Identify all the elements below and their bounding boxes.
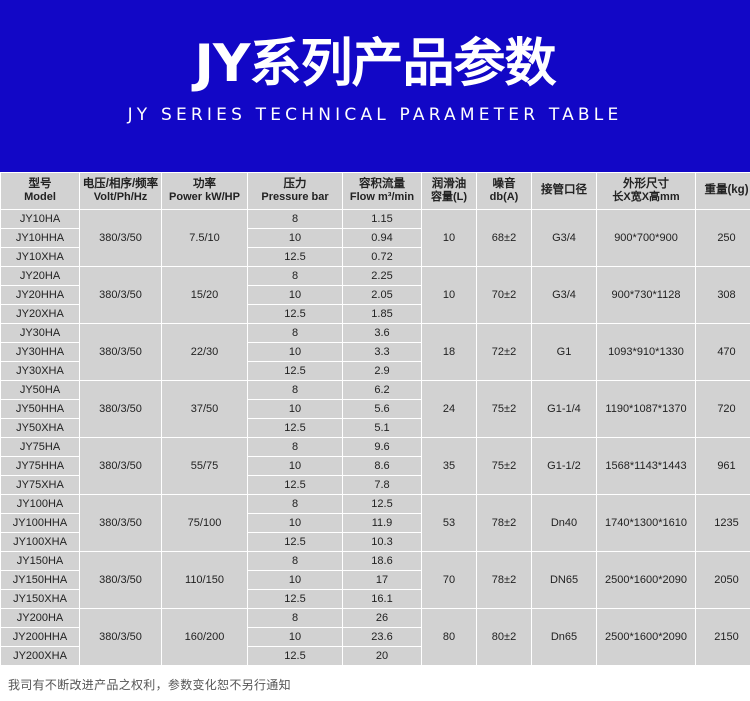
cell-pressure: 10 bbox=[248, 229, 342, 247]
cell-flow: 3.6 bbox=[343, 324, 421, 342]
page-banner: JY系列产品参数 JY SERIES TECHNICAL PARAMETER T… bbox=[0, 0, 750, 172]
cell-oil-capacity: 10 bbox=[422, 210, 476, 266]
cell-dimensions: 900*730*1128 bbox=[597, 267, 695, 323]
cell-noise: 75±2 bbox=[477, 381, 531, 437]
cell-weight: 308 bbox=[696, 267, 750, 323]
table-row: JY30HA380/3/5022/3083.61872±2G11093*910*… bbox=[1, 324, 750, 342]
cell-weight: 1235 bbox=[696, 495, 750, 551]
cell-pressure: 12.5 bbox=[248, 590, 342, 608]
cell-power: 110/150 bbox=[162, 552, 247, 608]
cell-model: JY100HHA bbox=[1, 514, 79, 532]
cell-model: JY20HA bbox=[1, 267, 79, 285]
cell-weight: 2150 bbox=[696, 609, 750, 665]
column-header-en-8: 长X宽X高mm bbox=[597, 191, 695, 204]
cell-voltage: 380/3/50 bbox=[80, 324, 161, 380]
cell-model: JY100XHA bbox=[1, 533, 79, 551]
cell-flow: 7.8 bbox=[343, 476, 421, 494]
cell-power: 160/200 bbox=[162, 609, 247, 665]
table-row: JY200HA380/3/50160/2008268080±2Dn652500*… bbox=[1, 609, 750, 627]
column-header-3: 压力Pressure bar bbox=[248, 173, 342, 209]
cell-model: JY10HA bbox=[1, 210, 79, 228]
cell-flow: 17 bbox=[343, 571, 421, 589]
cell-pressure: 12.5 bbox=[248, 647, 342, 665]
cell-model: JY75HHA bbox=[1, 457, 79, 475]
cell-oil-capacity: 35 bbox=[422, 438, 476, 494]
cell-model: JY75HA bbox=[1, 438, 79, 456]
cell-power: 75/100 bbox=[162, 495, 247, 551]
table-row: JY75HA380/3/5055/7589.63575±2G1-1/21568*… bbox=[1, 438, 750, 456]
cell-oil-capacity: 53 bbox=[422, 495, 476, 551]
cell-noise: 80±2 bbox=[477, 609, 531, 665]
banner-title: JY系列产品参数 bbox=[0, 34, 750, 94]
cell-flow: 5.1 bbox=[343, 419, 421, 437]
cell-flow: 18.6 bbox=[343, 552, 421, 570]
cell-pressure: 8 bbox=[248, 495, 342, 513]
column-header-2: 功率Power kW/HP bbox=[162, 173, 247, 209]
cell-flow: 6.2 bbox=[343, 381, 421, 399]
cell-pressure: 10 bbox=[248, 343, 342, 361]
cell-model: JY20XHA bbox=[1, 305, 79, 323]
cell-port-size: DN65 bbox=[532, 552, 596, 608]
column-header-cn-8: 外形尺寸 bbox=[597, 178, 695, 191]
cell-flow: 26 bbox=[343, 609, 421, 627]
column-header-4: 容积流量Flow m³/min bbox=[343, 173, 421, 209]
cell-port-size: Dn40 bbox=[532, 495, 596, 551]
cell-oil-capacity: 24 bbox=[422, 381, 476, 437]
column-header-cn-5: 润滑油 bbox=[422, 178, 476, 191]
column-header-en-1: Volt/Ph/Hz bbox=[80, 191, 161, 204]
cell-pressure: 8 bbox=[248, 438, 342, 456]
cell-pressure: 8 bbox=[248, 210, 342, 228]
cell-port-size: G1-1/4 bbox=[532, 381, 596, 437]
cell-port-size: G3/4 bbox=[532, 210, 596, 266]
cell-flow: 1.85 bbox=[343, 305, 421, 323]
cell-flow: 8.6 bbox=[343, 457, 421, 475]
cell-weight: 961 bbox=[696, 438, 750, 494]
cell-voltage: 380/3/50 bbox=[80, 609, 161, 665]
cell-model: JY150HHA bbox=[1, 571, 79, 589]
cell-weight: 720 bbox=[696, 381, 750, 437]
cell-model: JY75XHA bbox=[1, 476, 79, 494]
column-header-cn-9: 重量(kg) bbox=[696, 184, 750, 197]
cell-pressure: 8 bbox=[248, 381, 342, 399]
cell-flow: 0.72 bbox=[343, 248, 421, 266]
cell-pressure: 12.5 bbox=[248, 533, 342, 551]
cell-pressure: 10 bbox=[248, 400, 342, 418]
cell-pressure: 8 bbox=[248, 552, 342, 570]
column-header-cn-2: 功率 bbox=[162, 178, 247, 191]
column-header-cn-7: 接管口径 bbox=[532, 184, 596, 197]
cell-power: 37/50 bbox=[162, 381, 247, 437]
table-body: JY10HA380/3/507.5/1081.151068±2G3/4900*7… bbox=[1, 210, 750, 665]
cell-flow: 1.15 bbox=[343, 210, 421, 228]
cell-dimensions: 2500*1600*2090 bbox=[597, 609, 695, 665]
cell-pressure: 10 bbox=[248, 457, 342, 475]
cell-voltage: 380/3/50 bbox=[80, 210, 161, 266]
cell-power: 7.5/10 bbox=[162, 210, 247, 266]
cell-weight: 2050 bbox=[696, 552, 750, 608]
cell-model: JY200XHA bbox=[1, 647, 79, 665]
cell-flow: 2.05 bbox=[343, 286, 421, 304]
cell-model: JY50HHA bbox=[1, 400, 79, 418]
cell-flow: 9.6 bbox=[343, 438, 421, 456]
cell-pressure: 8 bbox=[248, 609, 342, 627]
cell-port-size: G1-1/2 bbox=[532, 438, 596, 494]
cell-voltage: 380/3/50 bbox=[80, 267, 161, 323]
cell-model: JY50XHA bbox=[1, 419, 79, 437]
cell-model: JY200HHA bbox=[1, 628, 79, 646]
table-row: JY20HA380/3/5015/2082.251070±2G3/4900*73… bbox=[1, 267, 750, 285]
cell-power: 15/20 bbox=[162, 267, 247, 323]
column-header-9: 重量(kg) bbox=[696, 173, 750, 209]
cell-model: JY10XHA bbox=[1, 248, 79, 266]
cell-pressure: 12.5 bbox=[248, 419, 342, 437]
cell-voltage: 380/3/50 bbox=[80, 495, 161, 551]
cell-noise: 70±2 bbox=[477, 267, 531, 323]
spec-table-wrapper: 型号Model电压/相序/频率Volt/Ph/Hz功率Power kW/HP压力… bbox=[0, 172, 750, 666]
cell-oil-capacity: 18 bbox=[422, 324, 476, 380]
cell-noise: 78±2 bbox=[477, 495, 531, 551]
header-row: 型号Model电压/相序/频率Volt/Ph/Hz功率Power kW/HP压力… bbox=[1, 173, 750, 209]
cell-pressure: 12.5 bbox=[248, 305, 342, 323]
cell-dimensions: 2500*1600*2090 bbox=[597, 552, 695, 608]
cell-flow: 20 bbox=[343, 647, 421, 665]
column-header-5: 润滑油容量(L) bbox=[422, 173, 476, 209]
cell-power: 55/75 bbox=[162, 438, 247, 494]
cell-port-size: Dn65 bbox=[532, 609, 596, 665]
table-row: JY150HA380/3/50110/150818.67078±2DN65250… bbox=[1, 552, 750, 570]
cell-port-size: G1 bbox=[532, 324, 596, 380]
cell-pressure: 8 bbox=[248, 324, 342, 342]
cell-model: JY100HA bbox=[1, 495, 79, 513]
column-header-cn-3: 压力 bbox=[248, 178, 342, 191]
cell-flow: 11.9 bbox=[343, 514, 421, 532]
cell-model: JY200HA bbox=[1, 609, 79, 627]
column-header-en-0: Model bbox=[1, 191, 79, 204]
cell-dimensions: 1740*1300*1610 bbox=[597, 495, 695, 551]
cell-oil-capacity: 10 bbox=[422, 267, 476, 323]
column-header-0: 型号Model bbox=[1, 173, 79, 209]
cell-model: JY30XHA bbox=[1, 362, 79, 380]
cell-model: JY20HHA bbox=[1, 286, 79, 304]
column-header-cn-6: 噪音 bbox=[477, 178, 531, 191]
column-header-en-4: Flow m³/min bbox=[343, 191, 421, 204]
cell-dimensions: 1093*910*1330 bbox=[597, 324, 695, 380]
cell-flow: 3.3 bbox=[343, 343, 421, 361]
cell-pressure: 8 bbox=[248, 267, 342, 285]
cell-model: JY10HHA bbox=[1, 229, 79, 247]
table-row: JY50HA380/3/5037/5086.22475±2G1-1/41190*… bbox=[1, 381, 750, 399]
cell-dimensions: 1190*1087*1370 bbox=[597, 381, 695, 437]
cell-flow: 2.25 bbox=[343, 267, 421, 285]
cell-power: 22/30 bbox=[162, 324, 247, 380]
column-header-6: 噪音db(A) bbox=[477, 173, 531, 209]
cell-voltage: 380/3/50 bbox=[80, 381, 161, 437]
spec-table: 型号Model电压/相序/频率Volt/Ph/Hz功率Power kW/HP压力… bbox=[0, 172, 750, 666]
table-row: JY100HA380/3/5075/100812.55378±2Dn401740… bbox=[1, 495, 750, 513]
column-header-cn-4: 容积流量 bbox=[343, 178, 421, 191]
cell-model: JY150XHA bbox=[1, 590, 79, 608]
cell-model: JY30HA bbox=[1, 324, 79, 342]
table-header: 型号Model电压/相序/频率Volt/Ph/Hz功率Power kW/HP压力… bbox=[1, 173, 750, 209]
cell-flow: 16.1 bbox=[343, 590, 421, 608]
cell-flow: 2.9 bbox=[343, 362, 421, 380]
column-header-en-5: 容量(L) bbox=[422, 191, 476, 204]
cell-noise: 75±2 bbox=[477, 438, 531, 494]
cell-oil-capacity: 80 bbox=[422, 609, 476, 665]
column-header-cn-1: 电压/相序/频率 bbox=[80, 178, 161, 191]
column-header-1: 电压/相序/频率Volt/Ph/Hz bbox=[80, 173, 161, 209]
cell-flow: 0.94 bbox=[343, 229, 421, 247]
column-header-en-6: db(A) bbox=[477, 191, 531, 204]
table-row: JY10HA380/3/507.5/1081.151068±2G3/4900*7… bbox=[1, 210, 750, 228]
column-header-en-3: Pressure bar bbox=[248, 191, 342, 204]
cell-pressure: 12.5 bbox=[248, 362, 342, 380]
cell-dimensions: 1568*1143*1443 bbox=[597, 438, 695, 494]
cell-model: JY50HA bbox=[1, 381, 79, 399]
cell-flow: 10.3 bbox=[343, 533, 421, 551]
column-header-7: 接管口径 bbox=[532, 173, 596, 209]
cell-pressure: 10 bbox=[248, 628, 342, 646]
cell-flow: 23.6 bbox=[343, 628, 421, 646]
banner-subtitle: JY SERIES TECHNICAL PARAMETER TABLE bbox=[0, 104, 750, 126]
cell-pressure: 12.5 bbox=[248, 248, 342, 266]
cell-pressure: 10 bbox=[248, 286, 342, 304]
column-header-8: 外形尺寸长X宽X高mm bbox=[597, 173, 695, 209]
cell-oil-capacity: 70 bbox=[422, 552, 476, 608]
column-header-cn-0: 型号 bbox=[1, 178, 79, 191]
cell-noise: 72±2 bbox=[477, 324, 531, 380]
cell-pressure: 10 bbox=[248, 571, 342, 589]
cell-flow: 5.6 bbox=[343, 400, 421, 418]
cell-noise: 78±2 bbox=[477, 552, 531, 608]
cell-model: JY30HHA bbox=[1, 343, 79, 361]
footer-note: 我司有不断改进产品之权利，参数变化恕不另行通知 bbox=[0, 666, 750, 693]
column-header-en-2: Power kW/HP bbox=[162, 191, 247, 204]
cell-pressure: 12.5 bbox=[248, 476, 342, 494]
cell-port-size: G3/4 bbox=[532, 267, 596, 323]
cell-pressure: 10 bbox=[248, 514, 342, 532]
cell-noise: 68±2 bbox=[477, 210, 531, 266]
cell-weight: 470 bbox=[696, 324, 750, 380]
cell-voltage: 380/3/50 bbox=[80, 438, 161, 494]
cell-voltage: 380/3/50 bbox=[80, 552, 161, 608]
cell-flow: 12.5 bbox=[343, 495, 421, 513]
cell-dimensions: 900*700*900 bbox=[597, 210, 695, 266]
cell-model: JY150HA bbox=[1, 552, 79, 570]
cell-weight: 250 bbox=[696, 210, 750, 266]
